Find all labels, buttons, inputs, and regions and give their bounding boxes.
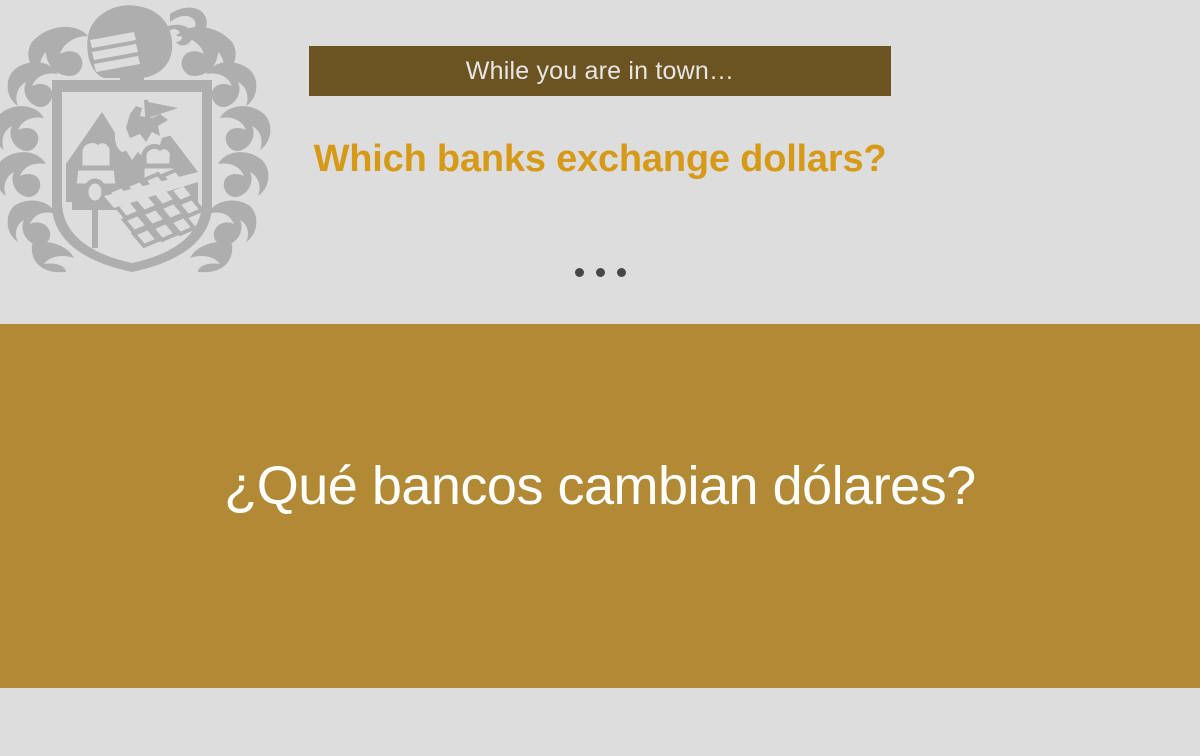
section-banner: While you are in town… [309,46,891,96]
dot-2 [596,268,605,277]
dot-1 [575,268,584,277]
answer-band: ¿Qué bancos cambian dólares? [0,324,1200,688]
ellipsis-dots-icon [0,268,1200,277]
question-spanish: ¿Qué bancos cambian dólares? [0,455,1200,517]
top-section: While you are in town… Which banks excha… [0,0,1200,324]
banner-label: While you are in town… [466,57,734,86]
question-english: Which banks exchange dollars? [0,138,1200,181]
dot-3 [617,268,626,277]
bottom-section [0,688,1200,756]
